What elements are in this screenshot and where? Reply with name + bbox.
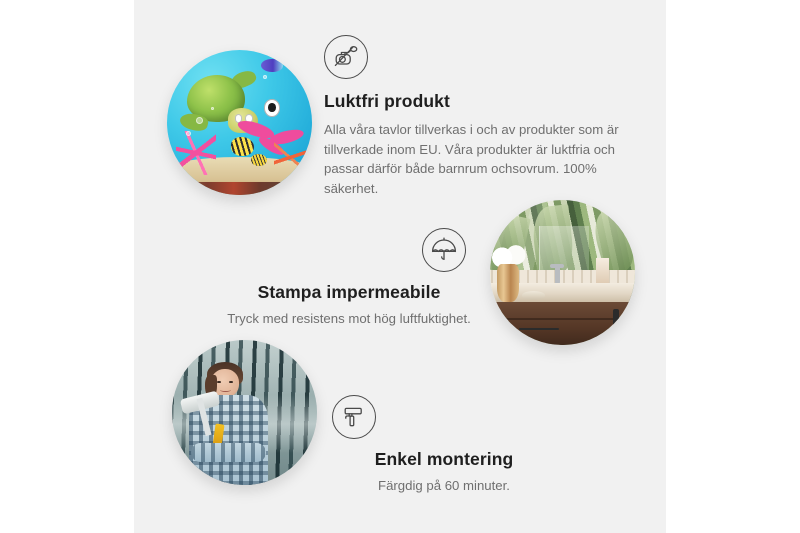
drawer-handle: [519, 328, 560, 330]
feature-description: Färgdig på 60 minuter.: [299, 476, 589, 496]
feature-description: Tryck med resistens mot hög luftfuktighe…: [184, 309, 514, 329]
foreground-strip: [167, 182, 312, 195]
feature-title: Stampa impermeabile: [184, 282, 514, 304]
umbrella-icon: [422, 228, 466, 272]
feature-easy-install: Enkel montering Färgdig på 60 minuter.: [299, 395, 589, 496]
underwater-scene: [167, 50, 312, 195]
folded-arms: [191, 443, 266, 462]
pink-coral: [176, 131, 217, 175]
cabinet-handle: [613, 309, 619, 334]
bubble: [186, 131, 191, 136]
faucet: [555, 265, 559, 284]
yellow-fish: [231, 137, 254, 156]
soap-dish: [522, 291, 545, 300]
feature-odorless: Luktfri produkt Alla våra tavlor tillver…: [324, 35, 624, 199]
blue-fish: [261, 59, 283, 72]
feature-waterproof: Stampa impermeabile Tryck med resistens …: [184, 228, 514, 329]
bubble: [263, 75, 267, 79]
mirror: [539, 226, 588, 270]
painter-scene: [172, 340, 317, 485]
feature-title: Enkel montering: [299, 449, 589, 471]
paint-roller-icon: [332, 395, 376, 439]
screenshot-root: Luktfri produkt Alla våra tavlor tillver…: [0, 0, 800, 533]
feature-panel: Luktfri produkt Alla våra tavlor tillver…: [134, 0, 666, 533]
no-spray-bottle-icon: [324, 35, 368, 79]
feature-title: Luktfri produkt: [324, 91, 624, 113]
product-photo-underwater[interactable]: [167, 50, 312, 195]
product-photo-painter[interactable]: [172, 340, 317, 485]
feature-description: Alla våra tavlor tillverkas i och av pro…: [324, 120, 624, 199]
small-yellow-fish: [251, 154, 267, 166]
octopus-eye: [264, 99, 280, 116]
red-coral: [274, 140, 306, 175]
